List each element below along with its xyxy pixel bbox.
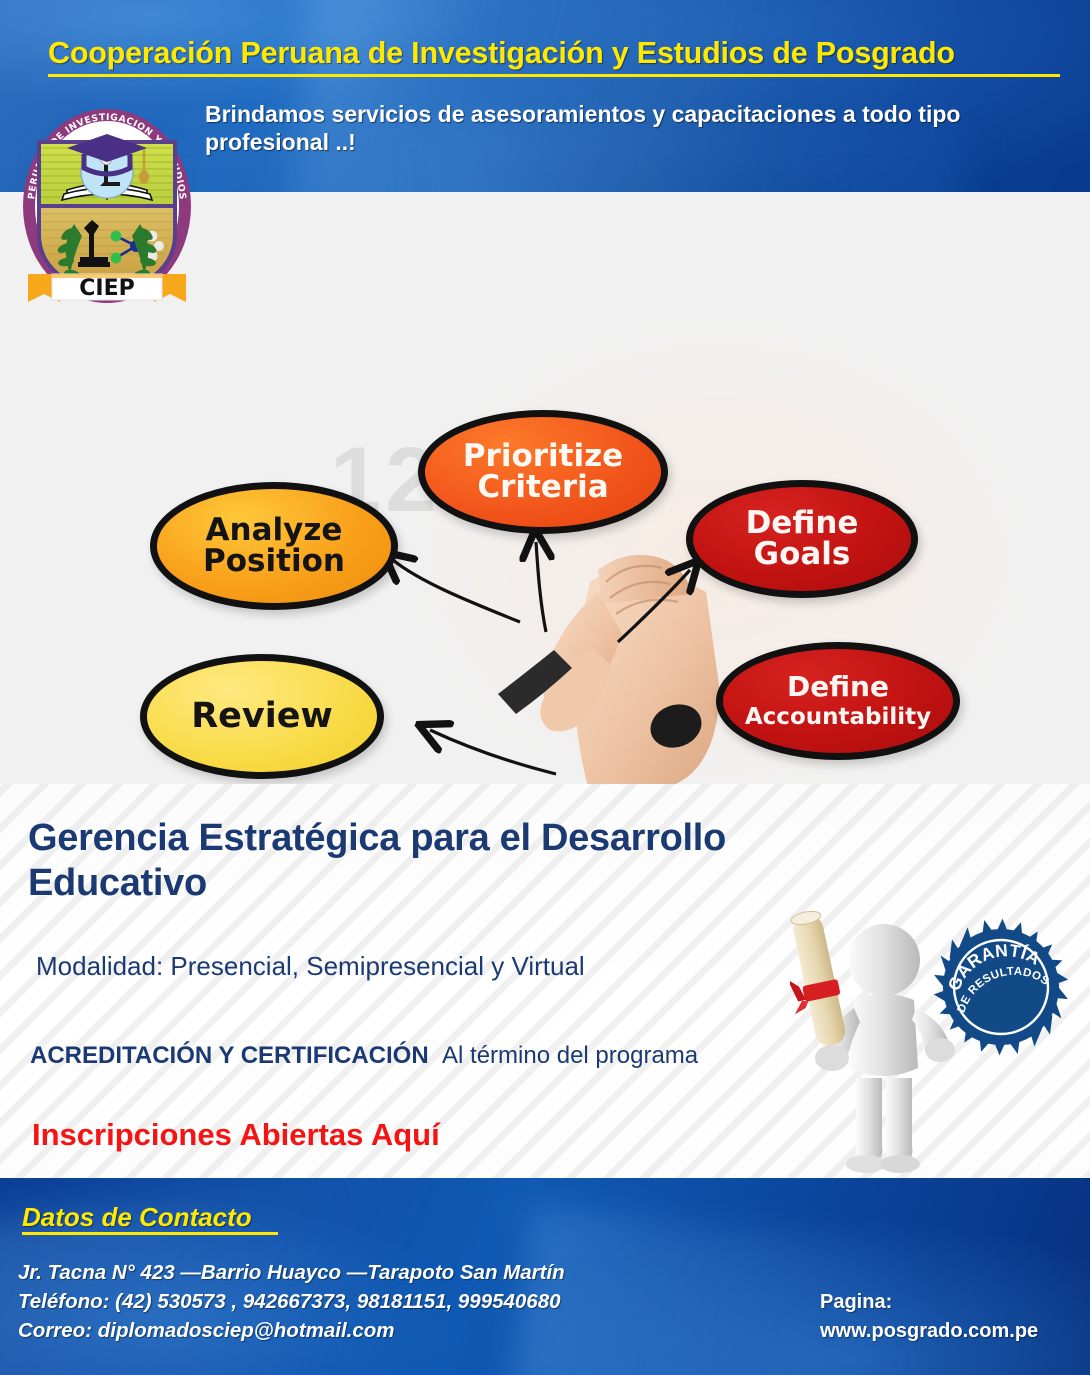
website-block: Pagina: www.posgrado.com.pe (820, 1288, 1080, 1346)
inscripciones-cta[interactable]: Inscripciones Abiertas Aquí (32, 1117, 732, 1153)
modalidad-text: Modalidad: Presencial, Semipresencial y … (36, 950, 796, 983)
status-badge: GARANTÍA DE RESULTADOS (932, 918, 1070, 1056)
bubble-review: Review (140, 654, 384, 779)
header-sheen-right (285, 0, 1076, 192)
contact-email[interactable]: Correo: diplomadosciep@hotmail.com (18, 1316, 678, 1345)
contact-heading: Datos de Contacto (22, 1202, 252, 1233)
website-url[interactable]: www.posgrado.com.pe (820, 1317, 1080, 1346)
organization-title-underline (48, 74, 1060, 77)
contact-heading-underline (22, 1232, 278, 1235)
contact-details: Jr. Tacna N° 423 —Barrio Huayco —Tarapot… (18, 1258, 678, 1345)
acreditacion-text: ACREDITACIÓN Y CERTIFICACIÓN Al término … (30, 1040, 770, 1072)
bubble-prioritize-criteria: Prioritize Criteria (418, 410, 668, 534)
organization-subtitle: Brindamos servicios de asesoramientos y … (205, 100, 1065, 156)
logo-acronym: CIEP (79, 276, 134, 301)
acreditacion-detail: Al término del programa (442, 1042, 698, 1069)
ciep-logo: CORPORACION PERUANA DE INVESTIGACION Y E… (12, 94, 202, 310)
website-label: Pagina: (820, 1288, 1080, 1317)
acreditacion-label: ACREDITACIÓN Y CERTIFICACIÓN (30, 1042, 429, 1069)
contact-phone: Teléfono: (42) 530573 , 942667373, 98181… (18, 1287, 678, 1316)
bubble-define-goals: Define Goals (686, 480, 918, 598)
contact-address: Jr. Tacna N° 423 —Barrio Huayco —Tarapot… (18, 1258, 678, 1287)
organization-title: Cooperación Peruana de Investigación y E… (48, 36, 1058, 71)
flyer-page: Cooperación Peruana de Investigación y E… (0, 0, 1090, 1375)
course-title: Gerencia Estratégica para el Desarrollo … (28, 816, 908, 906)
bubble-define-accountability: Define Accountability (716, 642, 960, 760)
bubble-analyze-position: Analyze Position (150, 482, 398, 610)
